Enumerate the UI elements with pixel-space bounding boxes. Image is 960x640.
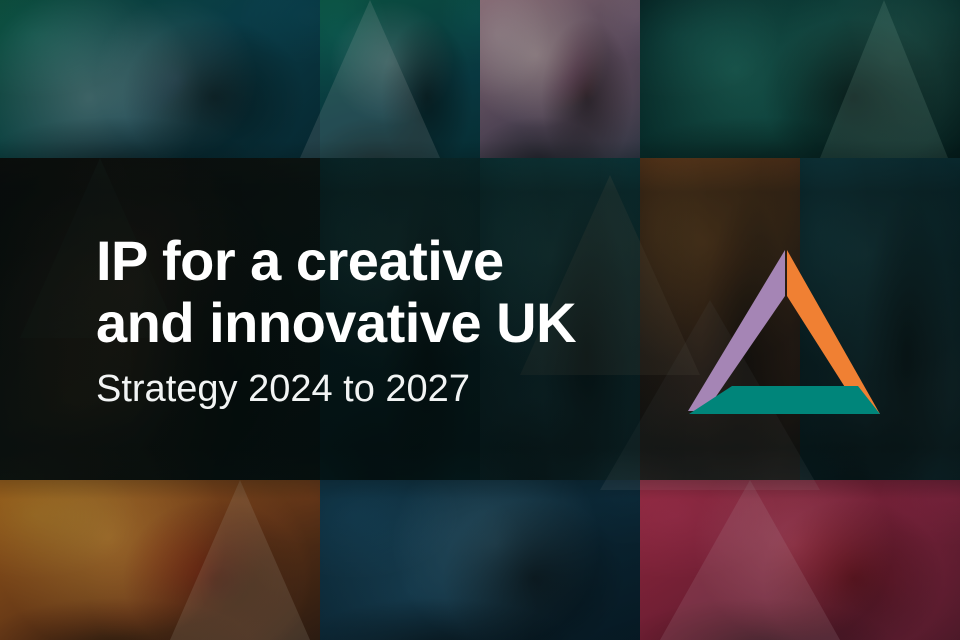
- page-title-line-2: and innovative UK: [96, 292, 696, 354]
- banner-headline-block: IP for a creative and innovative UK Stra…: [96, 230, 696, 410]
- collage-tile-film-camera-crew-photo: [640, 0, 960, 158]
- collage-tile-exhibition-stand-photo: [640, 480, 960, 640]
- ip-strategy-banner: IP for a creative and innovative UK Stra…: [0, 0, 960, 640]
- page-title-line-1: IP for a creative: [96, 230, 696, 292]
- collage-tile-meeting-panel-photo: [0, 0, 320, 158]
- page-title: IP for a creative and innovative UK: [96, 230, 696, 354]
- ipo-triangle-logo: [684, 248, 884, 420]
- page-subtitle: Strategy 2024 to 2027: [96, 368, 696, 410]
- collage-tile-seated-audience-photo: [320, 0, 480, 158]
- collage-tile-woman-in-crowd-photo: [320, 480, 640, 640]
- collage-tile-wheelchair-office-photo: [480, 0, 640, 158]
- collage-tile-sign-language-photo: [0, 480, 320, 640]
